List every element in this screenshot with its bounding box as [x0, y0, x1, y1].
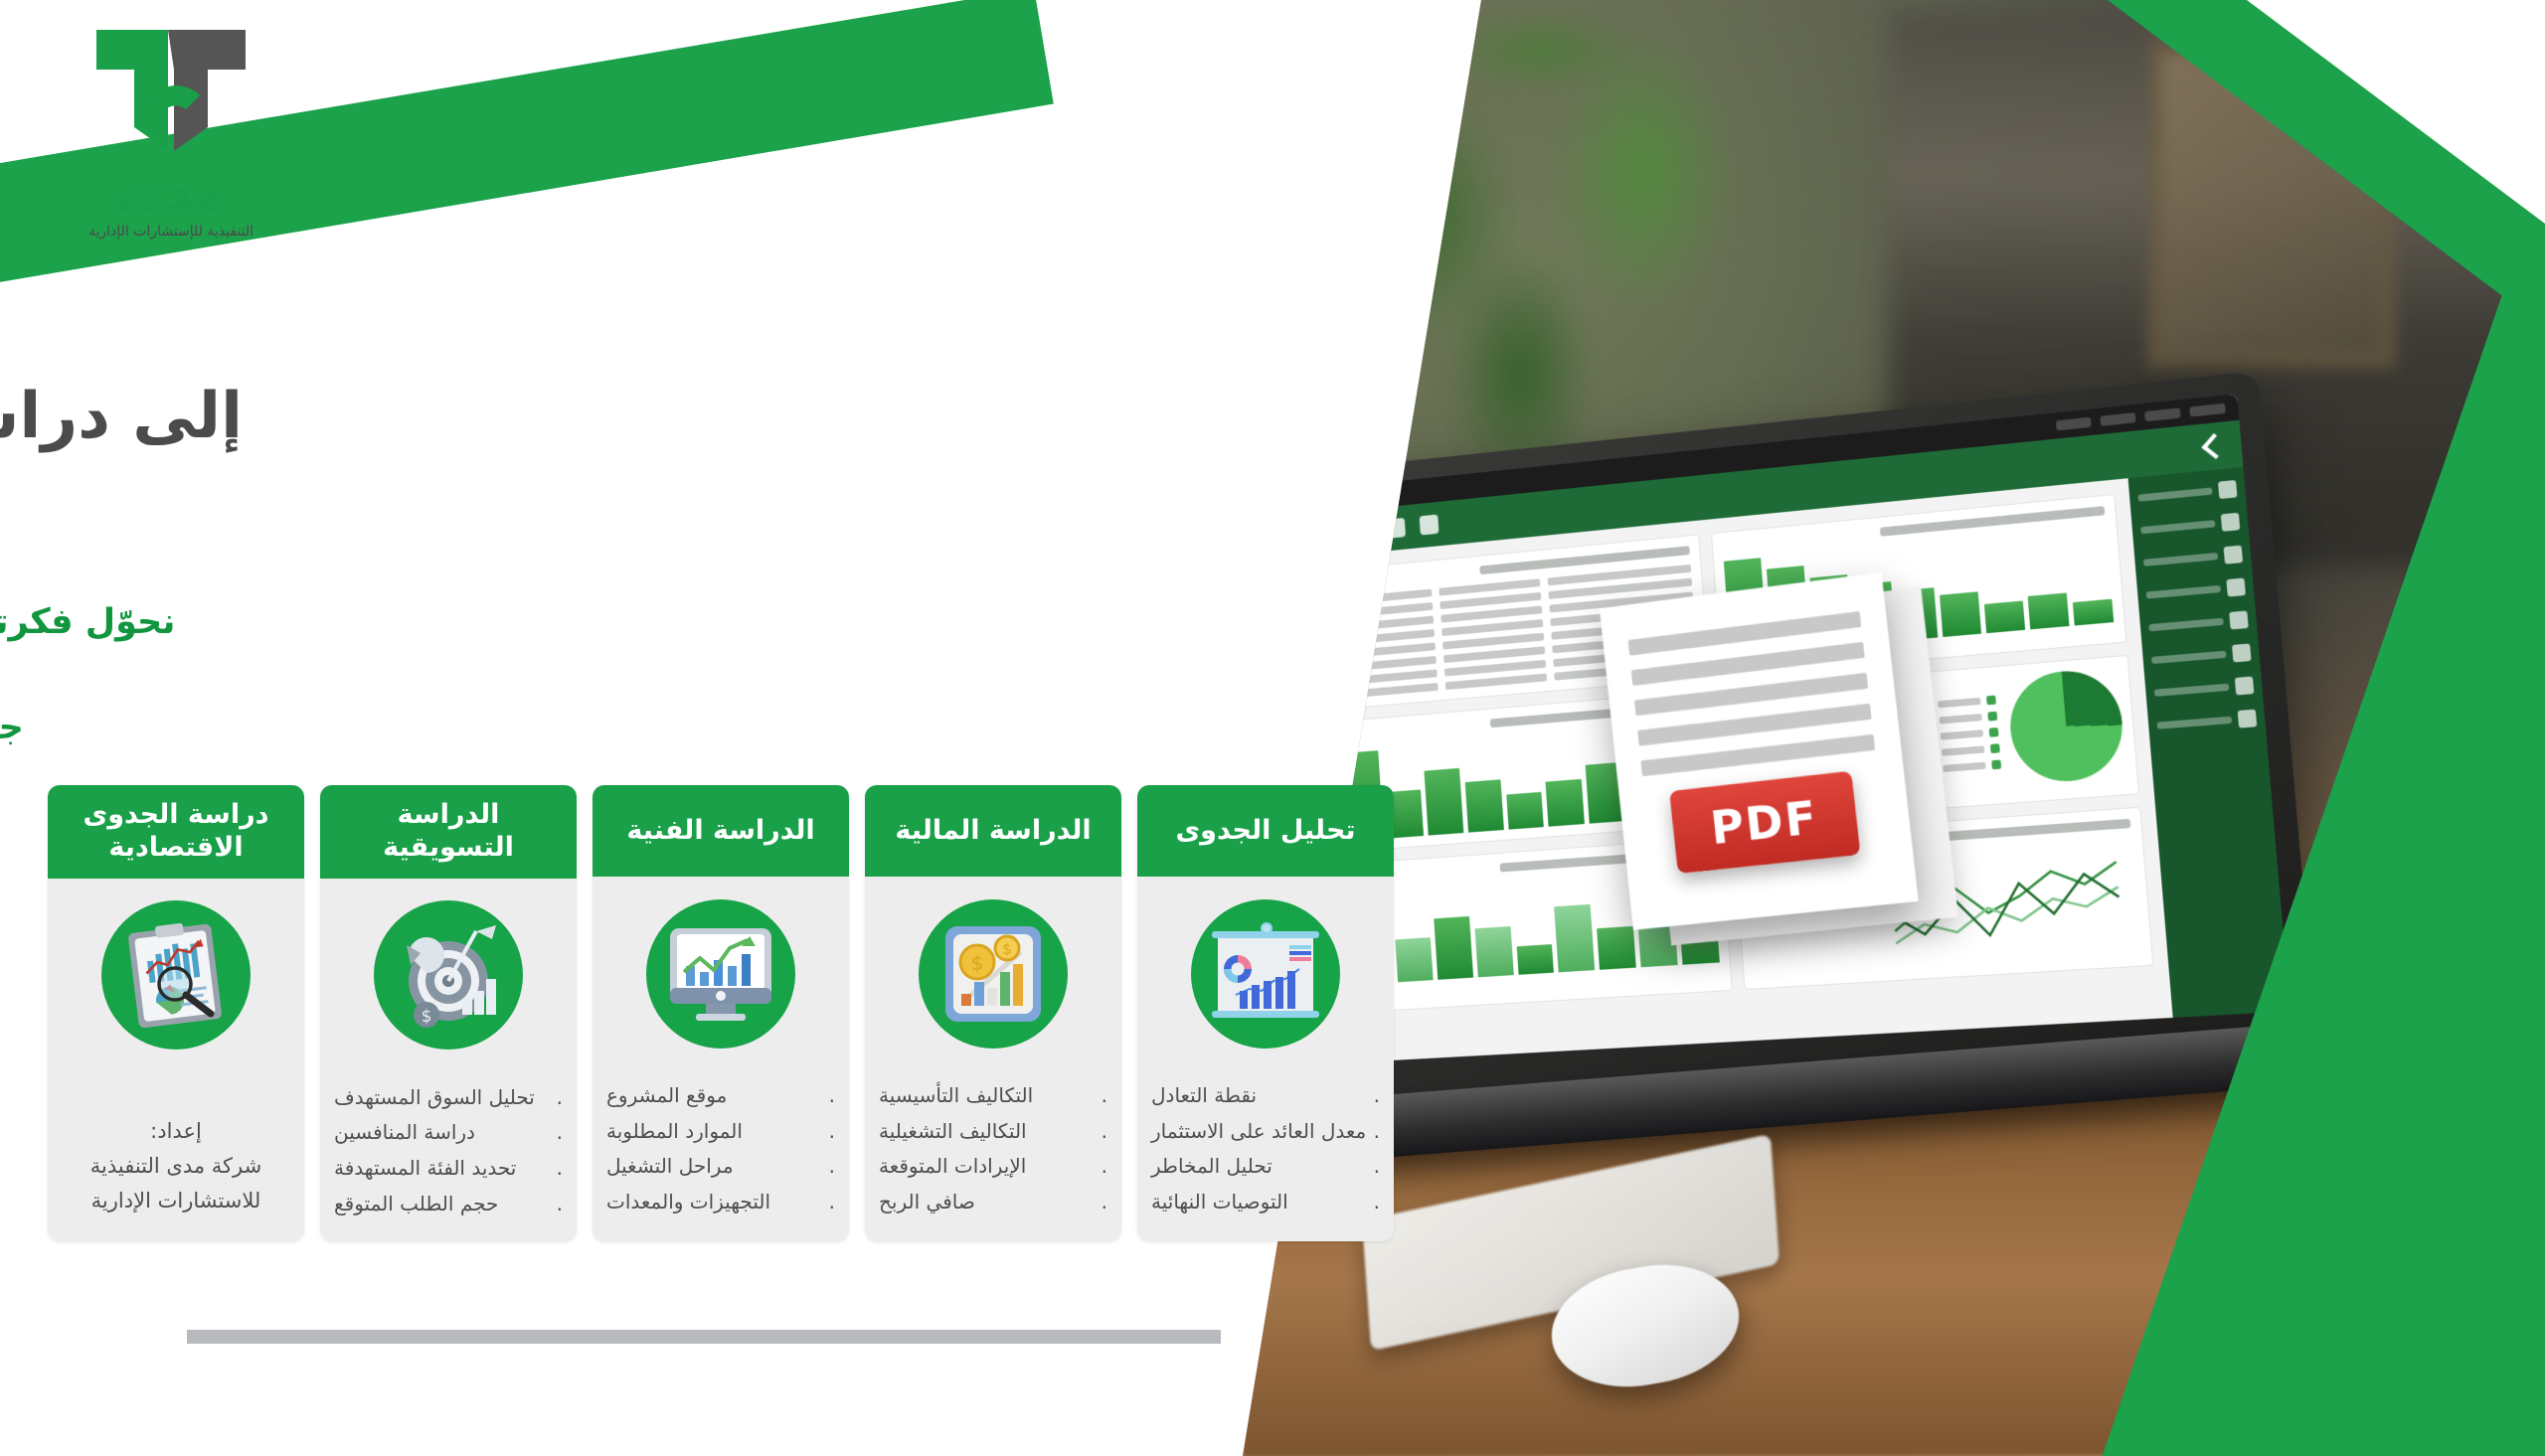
sidebar-label: [2151, 651, 2227, 664]
list-item: معدل العائد على الاستثمار: [1151, 1114, 1380, 1150]
card-marketing-study[interactable]: الدراسة التسويقية: [320, 785, 577, 1241]
sidebar-icon: [2226, 577, 2246, 596]
sidebar-label: [2146, 585, 2222, 599]
sidebar-label: [2140, 520, 2215, 534]
pie-legend: [1938, 695, 2001, 772]
logo-wordmark: مدى: [52, 165, 290, 218]
sidebar-item[interactable]: [2156, 710, 2257, 734]
target-dart-icon: $: [320, 879, 577, 1072]
svg-text:$: $: [422, 1007, 432, 1027]
list-item: تحليل المخاطر: [1151, 1149, 1380, 1185]
list-item: التكاليف التأسيسية: [879, 1078, 1107, 1114]
sidebar-icon: [2224, 546, 2244, 565]
sidebar-label: [2154, 684, 2230, 697]
monitor-growth-svg: [662, 922, 779, 1026]
list-item: موقع المشروع: [606, 1078, 835, 1114]
sidebar-item[interactable]: [2153, 676, 2254, 702]
sidebar-icon: [2232, 643, 2252, 662]
money-bar-chart-svg: $ $: [937, 918, 1049, 1030]
pdf-badge: PDF: [1669, 771, 1860, 874]
headline-line2-before: إلى دراسة جدوى: [0, 380, 243, 453]
list-item: نقطة التعادل: [1151, 1078, 1380, 1114]
card-items: نقطة التعادل معدل العائد على الاستثمار ت…: [1137, 1070, 1394, 1239]
card-title: الدراسة الفنية: [593, 785, 849, 877]
money-bar-chart-icon: $ $: [865, 877, 1121, 1070]
content-column: مدى التنفيذية للإستشارات الإدارية من فكر…: [0, 0, 1412, 1456]
pdf-document: PDF: [1600, 572, 1919, 930]
sidebar-icon: [2221, 513, 2241, 532]
sidebar-item[interactable]: [2140, 513, 2241, 540]
note-line: للاستشارات الإدارية: [62, 1184, 290, 1218]
clipboard-magnifier-svg: [119, 918, 233, 1032]
list-item: تحديد الفئة المستهدفة: [334, 1151, 563, 1187]
browser-tab: [2100, 412, 2135, 426]
subtitle-line-2: جاهزة للعرض على المستثمرين بصيغة PDF: [0, 702, 243, 754]
sidebar-label: [2143, 553, 2218, 566]
poster-canvas: PDF مدى: [0, 0, 2545, 1456]
card-note: إعداد: شركة مدى التنفيذية للاستشارات الإ…: [48, 1072, 304, 1240]
bottom-divider: [187, 1330, 1221, 1344]
card-financial-study[interactable]: الدراسة المالية $: [865, 785, 1121, 1241]
headline-block: من فكرة مشروع إلى دراسة جدوى PDF احترافي…: [0, 290, 243, 455]
card-title: الدراسة المالية: [865, 785, 1121, 877]
sidebar-icon: [2235, 676, 2255, 695]
sidebar-item[interactable]: [2145, 577, 2246, 603]
sidebar-icon: [2238, 710, 2258, 728]
sidebar-label: [2156, 717, 2232, 729]
svg-text:$: $: [971, 951, 984, 975]
company-logo: مدى التنفيذية للإستشارات الإدارية: [52, 24, 290, 240]
list-item: دراسة المنافسين: [334, 1115, 563, 1151]
presentation-chart-icon: [1137, 877, 1394, 1070]
card-feasibility-analysis[interactable]: تحليل الجدوى: [1137, 785, 1394, 1241]
pie-chart: [2006, 667, 2126, 785]
sidebar-item[interactable]: [2137, 480, 2238, 507]
browser-tab: [2144, 407, 2181, 421]
subtitle-line-1: نحوّل فكرتك إلى تقرير متكامل يشمل التحلي…: [0, 596, 243, 702]
service-cards: تحليل الجدوى: [48, 785, 1394, 1241]
sidebar-icon: [2229, 610, 2249, 629]
laptop-photo-panel: PDF: [1243, 0, 2545, 1456]
list-item: حجم الطلب المتوقع: [334, 1187, 563, 1222]
list-item: تحليل السوق المستهدف: [334, 1080, 563, 1116]
sidebar-label: [2148, 618, 2224, 632]
laptop-screen: PDF: [1303, 394, 2290, 1063]
sidebar-label: [2137, 487, 2212, 501]
list-item: التوصيات النهائية: [1151, 1185, 1380, 1220]
list-item: مراحل التشغيل: [606, 1149, 835, 1185]
monitor-growth-icon: [593, 877, 849, 1070]
list-item: الإيرادات المتوقعة: [879, 1149, 1107, 1185]
browser-tab: [2189, 404, 2226, 417]
svg-text:$: $: [1002, 940, 1012, 958]
card-title: دراسة الجدوى الاقتصادية: [48, 785, 304, 879]
laptop: PDF: [1254, 376, 2395, 1233]
sidebar-icon: [2218, 480, 2238, 499]
list-item: الموارد المطلوبة: [606, 1114, 835, 1150]
logo-tagline: التنفيذية للإستشارات الإدارية: [52, 224, 290, 240]
list-item: صافي الربح: [879, 1185, 1107, 1220]
clipboard-magnifier-icon: [48, 879, 304, 1072]
card-title: الدراسة التسويقية: [320, 785, 577, 879]
list-item: التجهيزات والمعدات: [606, 1185, 835, 1220]
mada-shield-logo-icon: [90, 24, 252, 161]
subtitle-block: نحوّل فكرتك إلى تقرير متكامل يشمل التحلي…: [0, 596, 243, 755]
sidebar-item[interactable]: [2142, 546, 2243, 571]
stacked-books: [2233, 1163, 2540, 1421]
notification-icon[interactable]: [1420, 515, 1440, 536]
card-title: تحليل الجدوى: [1137, 785, 1394, 877]
headline-line-1: من فكرة مشروع: [0, 290, 243, 374]
presentation-chart-svg: [1208, 919, 1323, 1029]
headline-line-2: إلى دراسة جدوى PDF احترافية خلال أيام: [0, 380, 243, 455]
card-items: التكاليف التأسيسية التكاليف التشغيلية ال…: [865, 1070, 1121, 1239]
laptop-lid: PDF: [1282, 371, 2317, 1102]
browser-tab: [2056, 417, 2092, 431]
note-line: إعداد:: [62, 1114, 290, 1149]
note-line: شركة مدى التنفيذية: [62, 1149, 290, 1184]
back-arrow-icon[interactable]: [2201, 433, 2228, 459]
card-items: تحليل السوق المستهدف دراسة المنافسين تحد…: [320, 1072, 577, 1241]
sidebar-item[interactable]: [2148, 610, 2249, 636]
sidebar-item[interactable]: [2151, 643, 2252, 669]
list-item: التكاليف التشغيلية: [879, 1114, 1107, 1150]
card-economic-feasibility[interactable]: دراسة الجدوى الاقتصادية: [48, 785, 304, 1241]
card-items: موقع المشروع الموارد المطلوبة مراحل التش…: [593, 1070, 849, 1239]
card-technical-study[interactable]: الدراسة الفنية: [593, 785, 849, 1241]
target-dart-svg: $: [391, 919, 506, 1031]
logo-svg: [90, 24, 252, 161]
